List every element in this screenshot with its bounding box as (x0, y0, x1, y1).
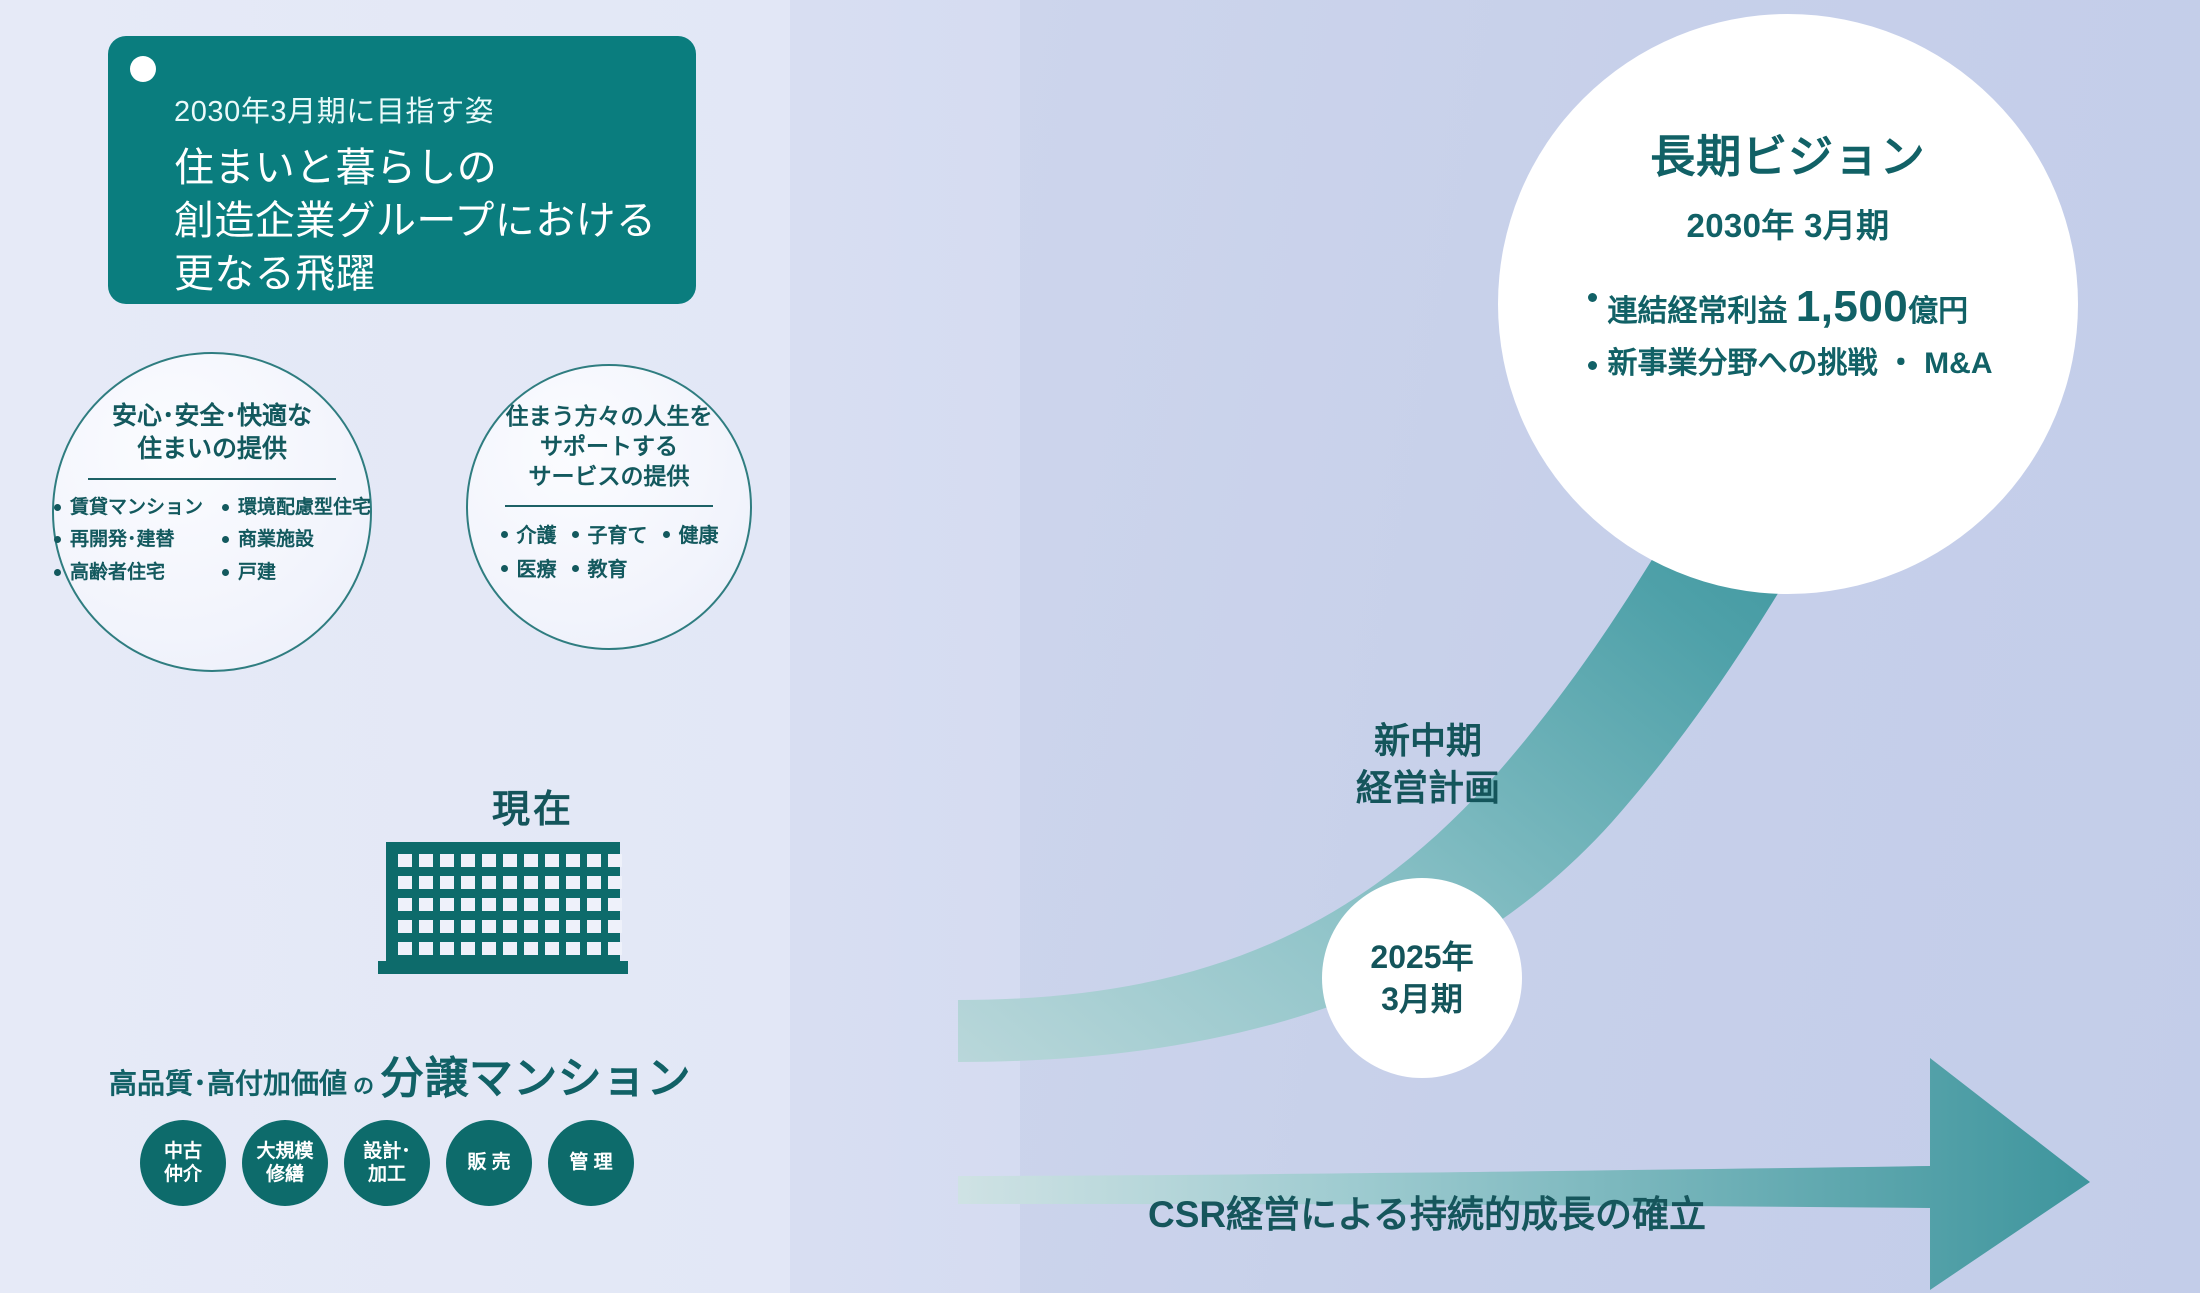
list-item: 新事業分野への挑戦 ・ M&A (1584, 341, 1993, 388)
divider (88, 478, 336, 480)
building-window (440, 876, 454, 889)
list-item: 医療 (500, 553, 557, 587)
mid-term-plan-label: 新中期 経営計画 (1308, 718, 1548, 812)
bullet-value: 1,500 (1796, 282, 1908, 331)
building-window (524, 898, 538, 911)
pill-line-1: 大規模 (256, 1140, 313, 1163)
building-window (461, 920, 475, 933)
divider (505, 505, 713, 507)
building-window (587, 942, 601, 955)
building-window (503, 898, 517, 911)
building-base (378, 961, 628, 974)
plan-label-line-2: 経営計画 (1308, 765, 1548, 812)
building-window (587, 920, 601, 933)
apartment-building-icon (378, 842, 628, 974)
building-window (545, 920, 559, 933)
list-item: 連結経常利益 1,500億円 (1584, 273, 1993, 341)
building-window (566, 898, 580, 911)
long-vision-subtitle: 2030年 3月期 (1687, 199, 1890, 247)
present-label: 現在 (492, 778, 574, 833)
mansion-label: 高品質･高付加価値 の 分譲マンション (140, 1042, 660, 1106)
pill-line-1: 販 売 (467, 1151, 510, 1174)
building-window (482, 942, 496, 955)
building-window (482, 854, 496, 867)
building-window (566, 854, 580, 867)
building-window (608, 854, 622, 867)
building-window (482, 920, 496, 933)
building-window (608, 942, 622, 955)
building-window (503, 920, 517, 933)
pill-line-1: 管 理 (569, 1151, 612, 1174)
building-window (524, 942, 538, 955)
building-window (419, 920, 433, 933)
feature-1-title-line-1: 安心･安全･快適な (112, 400, 312, 433)
building-window (566, 876, 580, 889)
building-window (566, 920, 580, 933)
plan-circle-line-2: 3月期 (1381, 978, 1463, 1020)
long-vision-bullets: 連結経常利益 1,500億円 新事業分野への挑戦 ・ M&A (1584, 273, 1993, 388)
mid-term-plan-circle: 2025年 3月期 (1322, 878, 1522, 1078)
service-pill-design-fabrication[interactable]: 設計･ 加工 (344, 1120, 430, 1206)
feature-2-title-line-3: サービスの提供 (506, 462, 713, 492)
list-item: 介護 (500, 519, 557, 553)
diagram-canvas: 2030年3月期に目指す姿 住まいと暮らしの 創造企業グループにおける 更なる飛… (0, 0, 2200, 1293)
mansion-label-prefix: 高品質･高付加価値 (109, 1062, 347, 1102)
vision-line-2: 創造企業グループにおける (174, 195, 696, 248)
list-item: 賃貸マンション (53, 492, 203, 524)
building-window (419, 942, 433, 955)
vision-line-3: 更なる飛躍 (174, 248, 696, 301)
building-window (440, 854, 454, 867)
building-window (545, 854, 559, 867)
service-pill-group: 中古 仲介 大規模 修繕 設計･ 加工 販 売 管 理 (140, 1120, 634, 1206)
feature-circle-housing: 安心･安全･快適な 住まいの提供 賃貸マンション 再開発･建替 高齢者住宅 環境… (52, 352, 372, 672)
list-item: 再開発･建替 (53, 524, 203, 556)
building-window (440, 920, 454, 933)
service-pill-sales[interactable]: 販 売 (446, 1120, 532, 1206)
list-item: 健康 (662, 519, 719, 553)
building-window (461, 876, 475, 889)
building-window (503, 876, 517, 889)
building-window (419, 876, 433, 889)
feature-2-list-row-2: 医療 教育 (500, 553, 719, 587)
vision-headline-box: 2030年3月期に目指す姿 住まいと暮らしの 創造企業グループにおける 更なる飛… (108, 36, 696, 304)
vision-line-1: 住まいと暮らしの (174, 142, 696, 195)
building-window (440, 898, 454, 911)
building-window (608, 876, 622, 889)
building-window (398, 898, 412, 911)
building-window (398, 920, 412, 933)
service-pill-management[interactable]: 管 理 (548, 1120, 634, 1206)
service-pill-used-brokerage[interactable]: 中古 仲介 (140, 1120, 226, 1206)
building-window (419, 898, 433, 911)
building-windows (398, 854, 622, 955)
vision-eyebrow: 2030年3月期に目指す姿 (174, 88, 696, 130)
bullet-pre: 新事業分野への挑戦 ・ M&A (1608, 347, 1993, 380)
list-item: 環境配慮型住宅 (221, 492, 371, 524)
building-window (398, 942, 412, 955)
building-window (461, 942, 475, 955)
mansion-label-main: 分譲マンション (380, 1042, 691, 1106)
feature-1-list-left: 賃貸マンション 再開発･建替 高齢者住宅 (53, 492, 203, 589)
feature-2-list-row-1: 介護 子育て 健康 (500, 519, 719, 553)
building-window (524, 920, 538, 933)
list-item: 商業施設 (221, 524, 371, 556)
feature-2-title-line-1: 住まう方々の人生を (506, 402, 713, 432)
building-window (587, 898, 601, 911)
building-window (545, 942, 559, 955)
pill-line-2: 加工 (368, 1163, 406, 1186)
building-window (524, 876, 538, 889)
pill-line-1: 中古 (164, 1140, 202, 1163)
bullet-dot-icon (130, 56, 156, 82)
list-item: 子育て (571, 519, 648, 553)
building-window (503, 942, 517, 955)
csr-caption: CSR経営による持続的成長の確立 (1148, 1184, 1706, 1238)
building-window (398, 876, 412, 889)
building-window (461, 854, 475, 867)
pill-line-2: 仲介 (164, 1163, 202, 1186)
bullet-pre: 連結経常利益 (1608, 295, 1796, 328)
building-window (587, 876, 601, 889)
building-window (524, 854, 538, 867)
building-window (545, 898, 559, 911)
building-window (587, 854, 601, 867)
feature-circle-services: 住まう方々の人生を サポートする サービスの提供 介護 子育て 健康 医療 教育 (466, 364, 752, 650)
long-vision-title: 長期ビジョン (1650, 120, 1925, 185)
pill-line-2: 修繕 (266, 1163, 304, 1186)
building-window (503, 854, 517, 867)
building-window (545, 876, 559, 889)
service-pill-large-scale-repair[interactable]: 大規模 修繕 (242, 1120, 328, 1206)
building-window (398, 854, 412, 867)
building-window (461, 898, 475, 911)
building-window (440, 942, 454, 955)
building-window (608, 898, 622, 911)
mansion-label-particle: の (349, 1070, 378, 1100)
feature-1-list-right: 環境配慮型住宅 商業施設 戸建 (221, 492, 371, 589)
list-item: 教育 (571, 553, 628, 587)
bullet-post: 億円 (1908, 295, 1968, 328)
building-window (482, 898, 496, 911)
list-item: 戸建 (221, 557, 371, 589)
building-window (482, 876, 496, 889)
plan-label-line-1: 新中期 (1308, 718, 1548, 765)
list-item: 高齢者住宅 (53, 557, 203, 589)
building-window (608, 920, 622, 933)
long-vision-circle: 長期ビジョン 2030年 3月期 連結経常利益 1,500億円 新事業分野への挑… (1498, 14, 2078, 594)
pill-line-1: 設計･ (363, 1140, 411, 1163)
feature-2-title-line-2: サポートする (506, 432, 713, 462)
feature-1-title-line-2: 住まいの提供 (112, 433, 312, 466)
csr-arrow (958, 1058, 2090, 1290)
plan-circle-line-1: 2025年 (1370, 936, 1473, 978)
building-window (419, 854, 433, 867)
building-window (566, 942, 580, 955)
